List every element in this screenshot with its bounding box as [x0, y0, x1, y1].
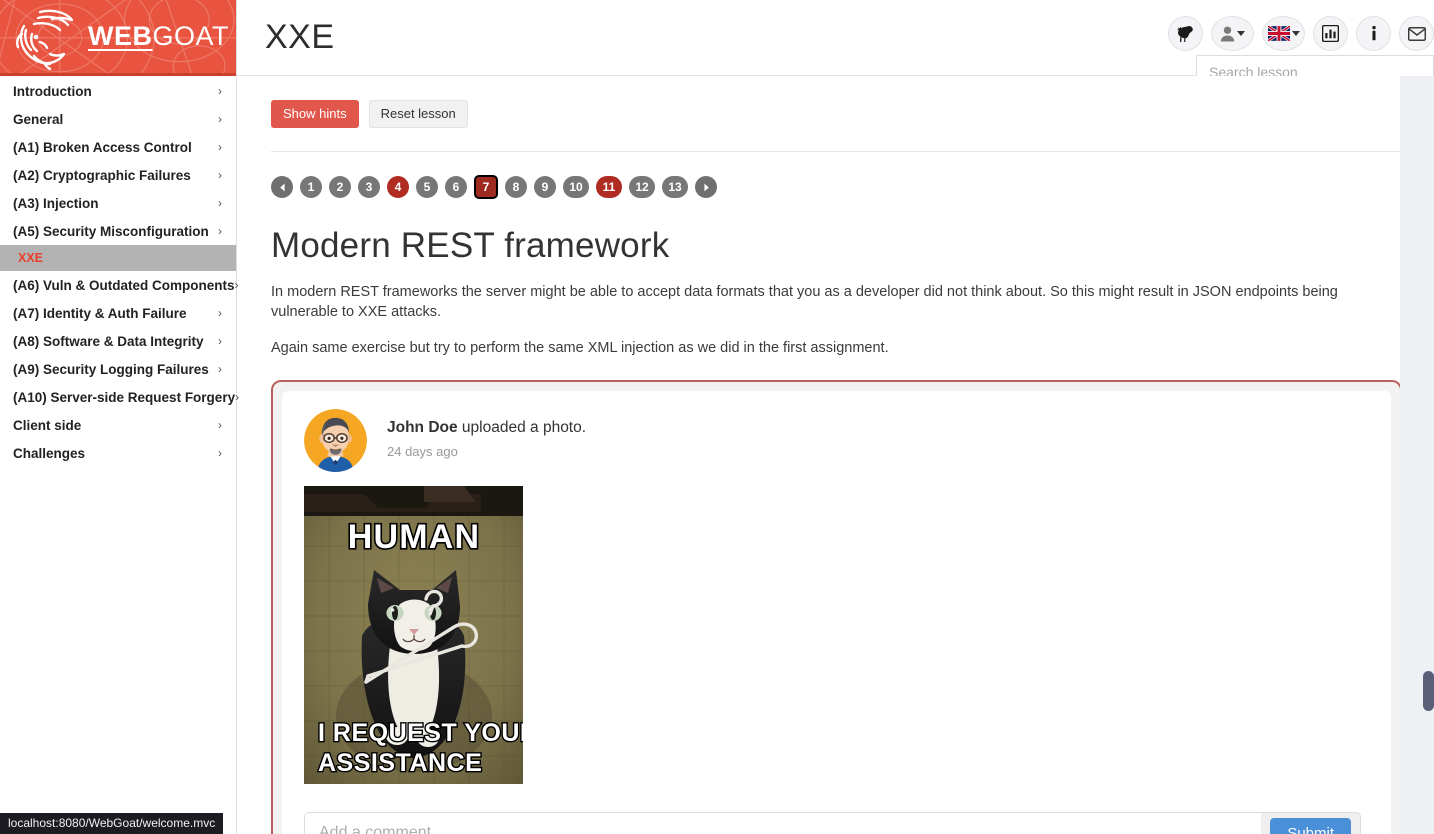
right-gutter — [1400, 76, 1434, 834]
user-avatar-photo — [304, 409, 367, 472]
cat-meme-image: HUMAN I REQUEST YOUR ASSISTANCE — [304, 486, 523, 784]
sidebar-item-label: (A6) Vuln & Outdated Components — [13, 278, 235, 293]
page-title: XXE — [265, 18, 335, 57]
sidebar-item-security-logging-failures[interactable]: (A9) Security Logging Failures › — [0, 355, 236, 383]
mail-button[interactable] — [1399, 16, 1434, 51]
assignment-card: John Doe uploaded a photo. 24 days ago — [271, 380, 1402, 834]
lesson-paragraph-2: Again same exercise but try to perform t… — [271, 338, 1402, 358]
post-header: John Doe uploaded a photo. 24 days ago — [304, 409, 1369, 472]
sidebar-item-label: (A3) Injection — [13, 196, 218, 211]
language-flag-icon — [1268, 26, 1290, 41]
comment-input[interactable] — [304, 812, 1261, 834]
brand-title: WEBGOAT — [88, 23, 229, 50]
sidebar-item-vuln-outdated-components[interactable]: (A6) Vuln & Outdated Components › — [0, 271, 236, 299]
pagination-page-6[interactable]: 6 — [445, 176, 467, 198]
sidebar-item-injection[interactable]: (A3) Injection › — [0, 189, 236, 217]
chevron-right-icon: › — [218, 84, 222, 98]
vertical-scrollbar[interactable] — [1423, 671, 1434, 711]
chevron-right-icon: › — [235, 278, 239, 292]
goat-head-logo — [10, 4, 84, 70]
chevron-down-icon — [1237, 31, 1245, 36]
info-icon — [1367, 25, 1381, 42]
lesson-title: Modern REST framework — [271, 226, 1402, 266]
lesson-pagination: 1 2 3 4 5 6 7 8 9 10 11 12 13 — [271, 174, 1402, 200]
brand-header[interactable]: WEBGOAT — [0, 0, 236, 76]
chevron-right-icon: › — [218, 334, 222, 348]
pagination-page-9[interactable]: 9 — [534, 176, 556, 198]
top-bar: XXE — [237, 0, 1434, 76]
pagination-next-button[interactable] — [695, 176, 717, 198]
pagination-page-10[interactable]: 10 — [563, 176, 589, 198]
goat-icon — [1175, 24, 1196, 43]
arrow-right-icon — [702, 183, 711, 192]
info-button[interactable] — [1356, 16, 1391, 51]
pagination-prev-button[interactable] — [271, 176, 293, 198]
brand-title-web: WEB — [88, 21, 153, 51]
sidebar-nav: Introduction › General › (A1) Broken Acc… — [0, 76, 236, 467]
assignment-inner: John Doe uploaded a photo. 24 days ago — [282, 391, 1391, 834]
chevron-right-icon: › — [218, 140, 222, 154]
pagination-page-1[interactable]: 1 — [300, 176, 322, 198]
chevron-right-icon: › — [218, 446, 222, 460]
sidebar: WEBGOAT Introduction › General › (A1) Br… — [0, 0, 237, 834]
toolbar-divider — [271, 151, 1402, 152]
post-meta: John Doe uploaded a photo. 24 days ago — [387, 409, 586, 459]
comment-form: Submit — [304, 812, 1361, 834]
submit-button[interactable]: Submit — [1270, 818, 1351, 834]
sidebar-item-introduction[interactable]: Introduction › — [0, 77, 236, 105]
language-menu-button[interactable] — [1262, 16, 1305, 51]
submit-addon: Submit — [1261, 812, 1361, 834]
arrow-left-icon — [278, 183, 287, 192]
pagination-page-12[interactable]: 12 — [629, 176, 655, 198]
avatar — [304, 409, 367, 472]
chevron-right-icon: › — [218, 362, 222, 376]
webgoat-app: WEBGOAT Introduction › General › (A1) Br… — [0, 0, 1434, 834]
sidebar-item-general[interactable]: General › — [0, 105, 236, 133]
sidebar-item-label: (A8) Software & Data Integrity — [13, 334, 218, 349]
sidebar-item-label: Introduction — [13, 84, 218, 99]
brand-title-goat: GOAT — [153, 21, 230, 51]
sidebar-item-identity-auth-failure[interactable]: (A7) Identity & Auth Failure › — [0, 299, 236, 327]
sidebar-item-label: (A5) Security Misconfiguration — [13, 224, 218, 239]
sidebar-item-server-side-request-forgery[interactable]: (A10) Server-side Request Forgery › — [0, 383, 236, 411]
meme-bottom-text-line1: I REQUEST YOUR — [318, 719, 523, 747]
lesson-content: Show hints Reset lesson 1 2 3 4 5 6 7 8 … — [237, 76, 1434, 834]
lesson-toolbar: Show hints Reset lesson — [271, 100, 1402, 128]
scoreboard-icon — [1322, 25, 1339, 42]
pagination-page-13[interactable]: 13 — [662, 176, 688, 198]
sidebar-item-label: (A9) Security Logging Failures — [13, 362, 218, 377]
sidebar-item-label: (A2) Cryptographic Failures — [13, 168, 218, 183]
chevron-right-icon: › — [218, 418, 222, 432]
post-text: John Doe uploaded a photo. — [387, 419, 586, 437]
mail-icon — [1408, 27, 1426, 41]
reset-lesson-button[interactable]: Reset lesson — [369, 100, 468, 128]
chevron-right-icon: › — [218, 168, 222, 182]
pagination-page-5[interactable]: 5 — [416, 176, 438, 198]
chevron-down-icon — [1292, 31, 1300, 36]
chevron-right-icon: › — [235, 390, 239, 404]
lesson-paragraph-1: In modern REST frameworks the server mig… — [271, 282, 1402, 322]
pagination-page-4[interactable]: 4 — [387, 176, 409, 198]
chevron-right-icon: › — [218, 224, 222, 238]
post-author: John Doe — [387, 419, 458, 436]
sidebar-item-broken-access-control[interactable]: (A1) Broken Access Control › — [0, 133, 236, 161]
sidebar-item-security-misconfiguration[interactable]: (A5) Security Misconfiguration › — [0, 217, 236, 245]
pagination-page-2[interactable]: 2 — [329, 176, 351, 198]
user-menu-button[interactable] — [1211, 16, 1254, 51]
sidebar-item-software-data-integrity[interactable]: (A8) Software & Data Integrity › — [0, 327, 236, 355]
post-timestamp: 24 days ago — [387, 444, 586, 459]
pagination-page-7[interactable]: 7 — [474, 175, 498, 199]
chevron-right-icon: › — [218, 306, 222, 320]
sidebar-item-label: (A10) Server-side Request Forgery — [13, 390, 235, 405]
goat-icon-button[interactable] — [1168, 16, 1203, 51]
sidebar-item-client-side[interactable]: Client side › — [0, 411, 236, 439]
post-action: uploaded a photo. — [458, 419, 586, 436]
pagination-page-11[interactable]: 11 — [596, 176, 622, 198]
header-icon-bar — [1168, 16, 1434, 51]
user-icon — [1220, 26, 1235, 42]
scoreboard-button[interactable] — [1313, 16, 1348, 51]
pagination-page-3[interactable]: 3 — [358, 176, 380, 198]
sidebar-item-label: (A7) Identity & Auth Failure — [13, 306, 218, 321]
meme-top-text: HUMAN — [348, 518, 481, 556]
chevron-right-icon: › — [218, 112, 222, 126]
sidebar-item-label: (A1) Broken Access Control — [13, 140, 218, 155]
status-bar-url: localhost:8080/WebGoat/welcome.mvc — [0, 813, 223, 834]
pagination-page-8[interactable]: 8 — [505, 176, 527, 198]
chevron-right-icon: › — [218, 196, 222, 210]
sidebar-item-label: Client side — [13, 418, 218, 433]
main-area: XXE — [237, 0, 1434, 834]
show-hints-button[interactable]: Show hints — [271, 100, 359, 128]
sidebar-item-xxe[interactable]: XXE — [0, 245, 236, 271]
sidebar-subitem-label: XXE — [18, 251, 43, 265]
sidebar-item-cryptographic-failures[interactable]: (A2) Cryptographic Failures › — [0, 161, 236, 189]
sidebar-item-label: General — [13, 112, 218, 127]
meme-bottom-text-line2: ASSISTANCE — [318, 749, 482, 777]
sidebar-item-label: Challenges — [13, 446, 218, 461]
sidebar-item-challenges[interactable]: Challenges › — [0, 439, 236, 467]
